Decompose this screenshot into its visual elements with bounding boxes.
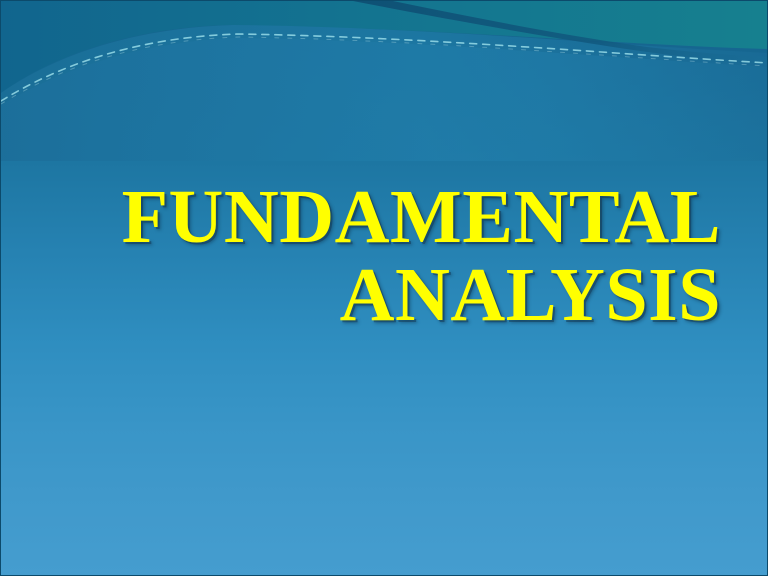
teal-upper-right-band xyxy=(1,1,768,93)
presentation-slide: FUNDAMENTAL ANALYSIS xyxy=(0,0,768,576)
slide-title: FUNDAMENTAL ANALYSIS xyxy=(61,179,721,334)
title-line-1: FUNDAMENTAL xyxy=(61,179,721,257)
dark-diagonal-ribbon xyxy=(353,1,768,65)
dotted-accent-line xyxy=(1,34,768,104)
top-arc-swoosh xyxy=(1,25,768,161)
title-line-2: ANALYSIS xyxy=(61,257,721,335)
secondary-arc xyxy=(1,38,768,161)
slide-background-decoration xyxy=(1,1,768,161)
